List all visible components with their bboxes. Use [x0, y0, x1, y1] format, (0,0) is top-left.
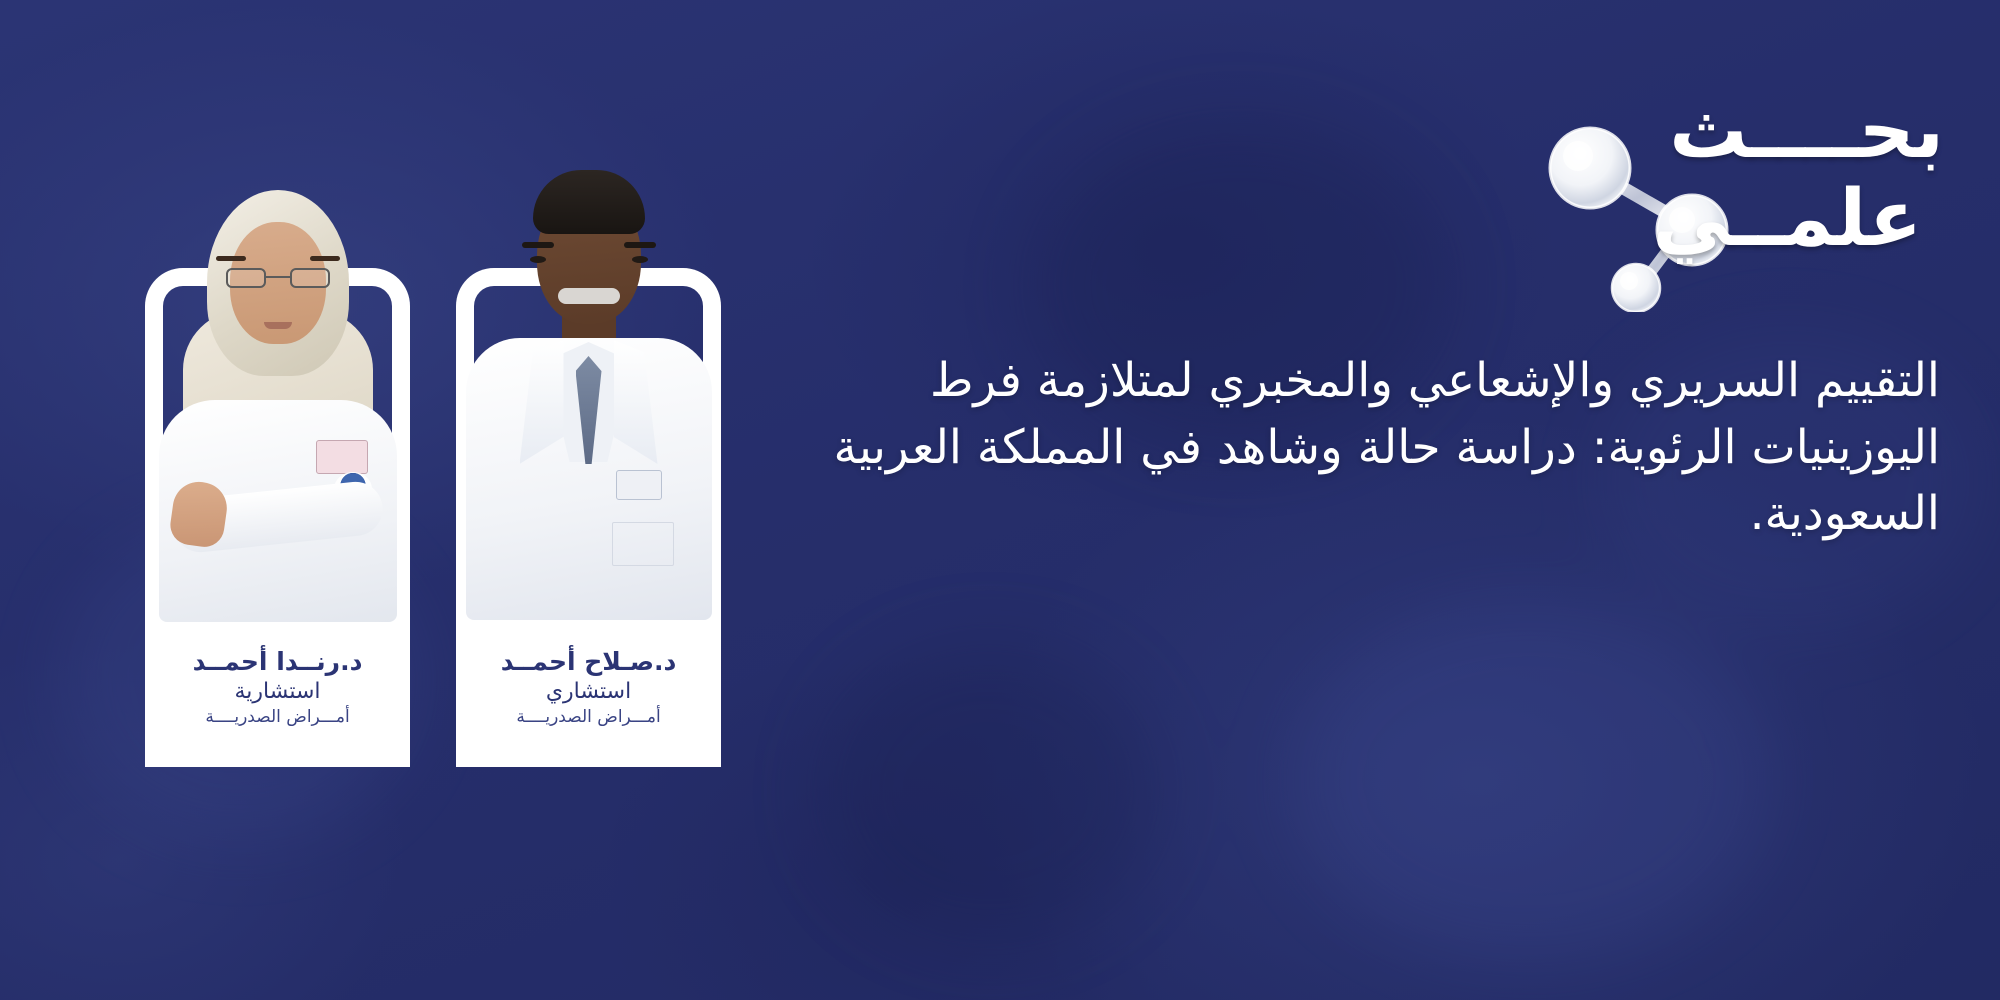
glasses-icon: [226, 268, 330, 288]
doctor-specialty: أمـــراض الصدريــــة: [516, 706, 660, 728]
portrait-brow: [216, 256, 246, 261]
portrait-brow: [522, 242, 554, 248]
doctor-name: د.صـلاح أحمــد: [501, 647, 677, 678]
background-blob: [1290, 600, 1770, 960]
card-text: د.رنــدا أحمــد استشارية أمـــراض الصدري…: [145, 643, 410, 767]
portrait-brow: [624, 242, 656, 248]
portrait-eye: [530, 256, 546, 263]
doctor-specialty: أمـــراض الصدريــــة: [205, 706, 349, 728]
logo-word-bottom: علمــي: [1652, 174, 1922, 264]
portrait-id-badge: [316, 440, 368, 474]
portrait-moustache: [558, 288, 620, 304]
doctor-role: استشاري: [546, 678, 631, 706]
portrait-hair: [533, 170, 645, 234]
headline-title: التقييم السريري والإشعاعي والمخبري لمتلا…: [830, 348, 1940, 548]
doctor-name: د.رنــدا أحمــد: [193, 647, 363, 678]
doctor-photo: [456, 140, 721, 620]
doctor-cards: د.رنــدا أحمــد استشارية أمـــراض الصدري…: [145, 260, 745, 770]
doctor-role: استشارية: [234, 678, 320, 706]
portrait-id-badge: [616, 470, 662, 500]
background-blob: [820, 640, 1160, 940]
logo-word-top: بحــــث: [1669, 86, 1944, 176]
portrait-eye: [632, 256, 648, 263]
portrait-female-doctor: [158, 190, 398, 620]
doctor-card[interactable]: د.رنــدا أحمــد استشارية أمـــراض الصدري…: [145, 260, 410, 767]
portrait-coat-pocket: [612, 522, 674, 566]
brand-logo: بحــــث علمــي: [1538, 78, 1958, 318]
portrait-mouth: [264, 322, 292, 329]
card-text: د.صـلاح أحمــد استشاري أمـــراض الصدريــ…: [456, 643, 721, 767]
portrait-brow: [310, 256, 340, 261]
portrait-male-doctor: [464, 170, 714, 620]
doctor-card[interactable]: د.صـلاح أحمــد استشاري أمـــراض الصدريــ…: [456, 260, 721, 767]
doctor-photo: [145, 140, 410, 620]
